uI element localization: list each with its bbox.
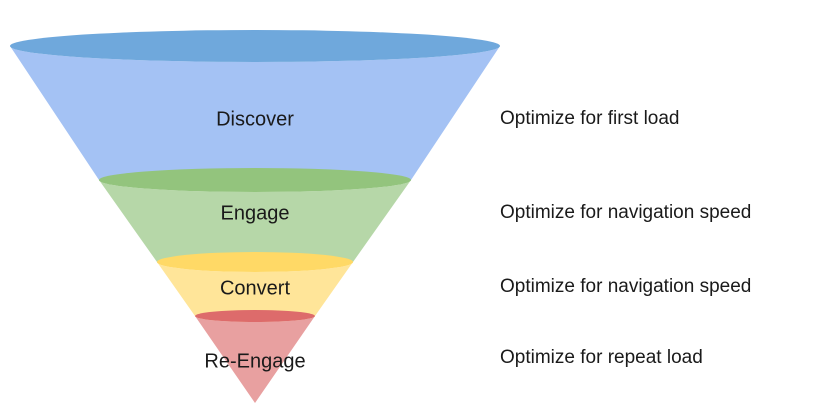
funnel-svg: Discover Engage Convert Re-Engage Optimi… (0, 0, 837, 417)
funnel-stage-discover[interactable]: Discover (10, 30, 500, 191)
funnel-cap-discover (10, 30, 500, 62)
annotation-re-engage: Optimize for repeat load (500, 347, 703, 368)
funnel-cap-re-engage (195, 310, 315, 322)
funnel-label-convert: Convert (220, 277, 290, 299)
funnel-label-re-engage: Re-Engage (204, 350, 305, 372)
funnel-diagram: Discover Engage Convert Re-Engage Optimi… (0, 0, 837, 417)
funnel-cap-engage (99, 168, 411, 192)
annotation-convert: Optimize for navigation speed (500, 276, 751, 297)
annotation-engage: Optimize for navigation speed (500, 202, 751, 223)
funnel-label-discover: Discover (216, 108, 294, 130)
funnel-cap-convert (157, 252, 353, 272)
funnel-label-engage: Engage (221, 202, 290, 224)
funnel-stage-re-engage[interactable]: Re-Engage (195, 310, 315, 403)
annotation-discover: Optimize for first load (500, 108, 680, 129)
